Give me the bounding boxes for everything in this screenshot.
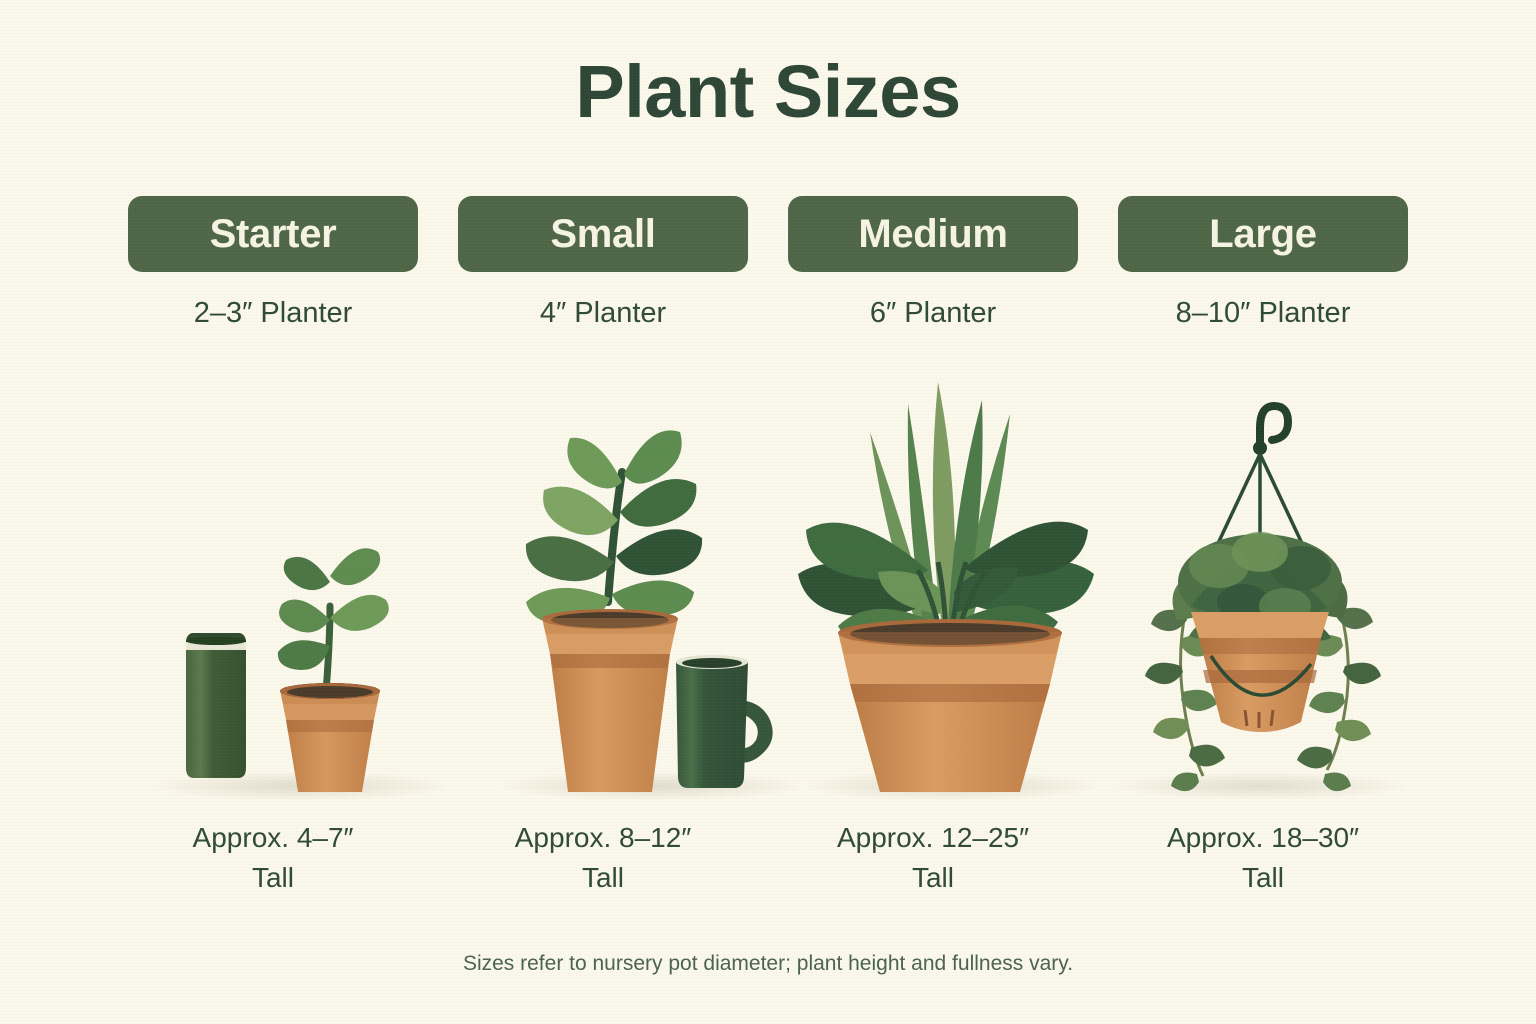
- tier-badge-medium[interactable]: Medium: [788, 196, 1078, 272]
- tier-badge-large[interactable]: Large: [1118, 196, 1408, 272]
- height-caption-line1: Approx. 4–7″: [128, 818, 418, 858]
- height-caption-small: Approx. 8–12″ Tall: [458, 818, 748, 898]
- height-caption-line1: Approx. 12–25″: [788, 818, 1078, 858]
- illustration-large: [1095, 370, 1425, 800]
- tier-planter-size-starter: 2–3″ Planter: [194, 297, 353, 330]
- height-caption-large: Approx. 18–30″ Tall: [1118, 818, 1408, 898]
- tier-badge-label: Large: [1209, 212, 1316, 257]
- terracotta-pot: [838, 619, 1062, 792]
- tier-header-row: Starter 2–3″ Planter Small 4″ Planter Me…: [128, 196, 1408, 330]
- height-caption-line1: Approx. 18–30″: [1118, 818, 1408, 858]
- tier-badge-label: Medium: [858, 212, 1007, 257]
- tier-column-medium: Medium 6″ Planter: [788, 196, 1078, 330]
- soda-can-prop: [186, 633, 246, 778]
- height-caption-line2: Tall: [128, 858, 418, 898]
- height-caption-row: Approx. 4–7″ Tall Approx. 8–12″ Tall App…: [128, 818, 1408, 898]
- height-caption-line2: Tall: [788, 858, 1078, 898]
- bushy-plant: [798, 382, 1094, 647]
- page-title: Plant Sizes: [0, 55, 1536, 129]
- illustration-starter: [150, 370, 460, 800]
- terracotta-basket: [1191, 612, 1329, 732]
- illustration-small: [490, 370, 810, 800]
- hanging-hook-icon: [1253, 406, 1288, 455]
- height-caption-starter: Approx. 4–7″ Tall: [128, 818, 418, 898]
- tier-badge-small[interactable]: Small: [458, 196, 748, 272]
- tier-column-starter: Starter 2–3″ Planter: [128, 196, 418, 330]
- terracotta-pot: [542, 609, 678, 792]
- illustration-stage: [0, 370, 1536, 800]
- illustration-medium: [790, 370, 1110, 800]
- footnote-text: Sizes refer to nursery pot diameter; pla…: [0, 952, 1536, 976]
- tier-column-large: Large 8–10″ Planter: [1118, 196, 1408, 330]
- tier-badge-starter[interactable]: Starter: [128, 196, 418, 272]
- tier-planter-size-large: 8–10″ Planter: [1176, 297, 1351, 330]
- height-caption-medium: Approx. 12–25″ Tall: [788, 818, 1078, 898]
- tier-planter-size-medium: 6″ Planter: [870, 297, 996, 330]
- seedling-plant: [278, 548, 389, 692]
- tier-planter-size-small: 4″ Planter: [540, 297, 666, 330]
- height-caption-line1: Approx. 8–12″: [458, 818, 748, 858]
- coffee-mug-prop: [676, 655, 773, 788]
- height-caption-line2: Tall: [1118, 858, 1408, 898]
- tier-badge-label: Starter: [210, 212, 337, 257]
- tier-column-small: Small 4″ Planter: [458, 196, 748, 330]
- tier-badge-label: Small: [550, 212, 655, 257]
- ground-shadow: [1110, 772, 1410, 800]
- height-caption-line2: Tall: [458, 858, 748, 898]
